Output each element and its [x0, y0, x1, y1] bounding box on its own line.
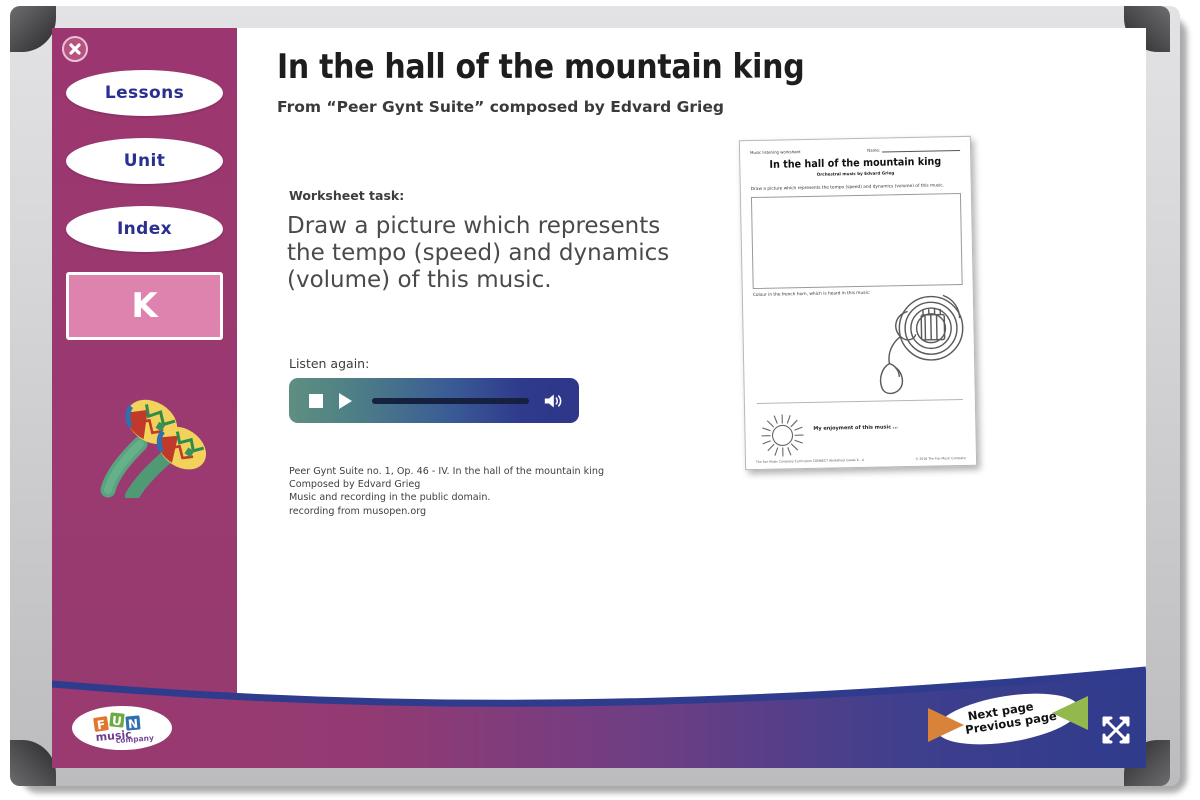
maracas-icon: [70, 378, 220, 498]
credit-line-1: Peer Gynt Suite no. 1, Op. 46 - IV. In t…: [289, 465, 604, 478]
worksheet-divider: [757, 399, 963, 404]
worksheet-enjoyment-label: My enjoyment of this music …: [813, 424, 898, 432]
presentation-screen: Lessons Unit Index K: [52, 28, 1146, 768]
svg-text:U: U: [111, 714, 122, 729]
main-content: In the hall of the mountain king From “P…: [237, 28, 1146, 768]
sidebar-item-index[interactable]: Index: [66, 206, 223, 252]
credit-line-3: Music and recording in the public domain…: [289, 491, 604, 504]
fun-music-company-logo[interactable]: F U N music company: [72, 706, 172, 750]
worksheet-thumbnail[interactable]: Music listening worksheet Name: In the h…: [739, 136, 977, 470]
french-horn-icon: [871, 289, 969, 399]
sidebar: Lessons Unit Index K: [52, 28, 237, 768]
sun-icon: [759, 412, 806, 459]
sidebar-item-unit-label: Unit: [124, 151, 165, 171]
play-button[interactable]: [339, 393, 352, 409]
sidebar-item-lessons[interactable]: Lessons: [66, 70, 223, 116]
listen-again-label: Listen again:: [289, 356, 369, 371]
worksheet-footer-right: © 2018 The Fun Music Company: [915, 456, 966, 461]
audio-player[interactable]: [289, 378, 579, 423]
close-button[interactable]: [62, 36, 88, 62]
worksheet-header-row: Music listening worksheet Name:: [750, 146, 960, 155]
fullscreen-button[interactable]: [1100, 714, 1132, 746]
close-icon: [68, 42, 82, 56]
progress-slider[interactable]: [372, 398, 529, 404]
page-navigation[interactable]: Next page Previous page: [918, 692, 1098, 746]
worksheet-name-line: [882, 146, 960, 152]
credit-line-4: recording from musopen.org: [289, 505, 604, 518]
worksheet-task-label: Worksheet task:: [289, 188, 404, 203]
worksheet-instruction: Draw a picture which represents the temp…: [751, 183, 961, 193]
worksheet-footer-left: The Fun Music Company Curriculum CONNECT…: [756, 458, 864, 464]
worksheet-header-left: Music listening worksheet: [750, 149, 800, 155]
stop-button[interactable]: [309, 394, 323, 408]
audio-credits: Peer Gynt Suite no. 1, Op. 46 - IV. In t…: [289, 465, 604, 518]
grade-level-button[interactable]: K: [66, 272, 223, 340]
credit-line-2: Composed by Edvard Grieg: [289, 478, 604, 491]
worksheet-name-field: Name:: [867, 146, 960, 153]
fun-music-logo-icon: F U N music company: [90, 711, 154, 745]
worksheet-task-text: Draw a picture which represents the temp…: [287, 213, 677, 294]
page-title: In the hall of the mountain king: [277, 48, 804, 87]
sidebar-item-index-label: Index: [117, 219, 172, 239]
worksheet-drawing-box: [751, 193, 963, 289]
whiteboard-stage: Lessons Unit Index K: [0, 0, 1200, 800]
volume-icon: [543, 392, 563, 410]
page-subtitle: From “Peer Gynt Suite” composed by Edvar…: [277, 98, 724, 116]
worksheet-name-label: Name:: [867, 148, 880, 153]
grade-level-label: K: [131, 286, 157, 326]
svg-text:company: company: [116, 733, 154, 745]
fullscreen-icon: [1104, 718, 1128, 742]
sidebar-item-lessons-label: Lessons: [105, 83, 184, 103]
volume-button[interactable]: [543, 392, 563, 410]
sidebar-item-unit[interactable]: Unit: [66, 138, 223, 184]
